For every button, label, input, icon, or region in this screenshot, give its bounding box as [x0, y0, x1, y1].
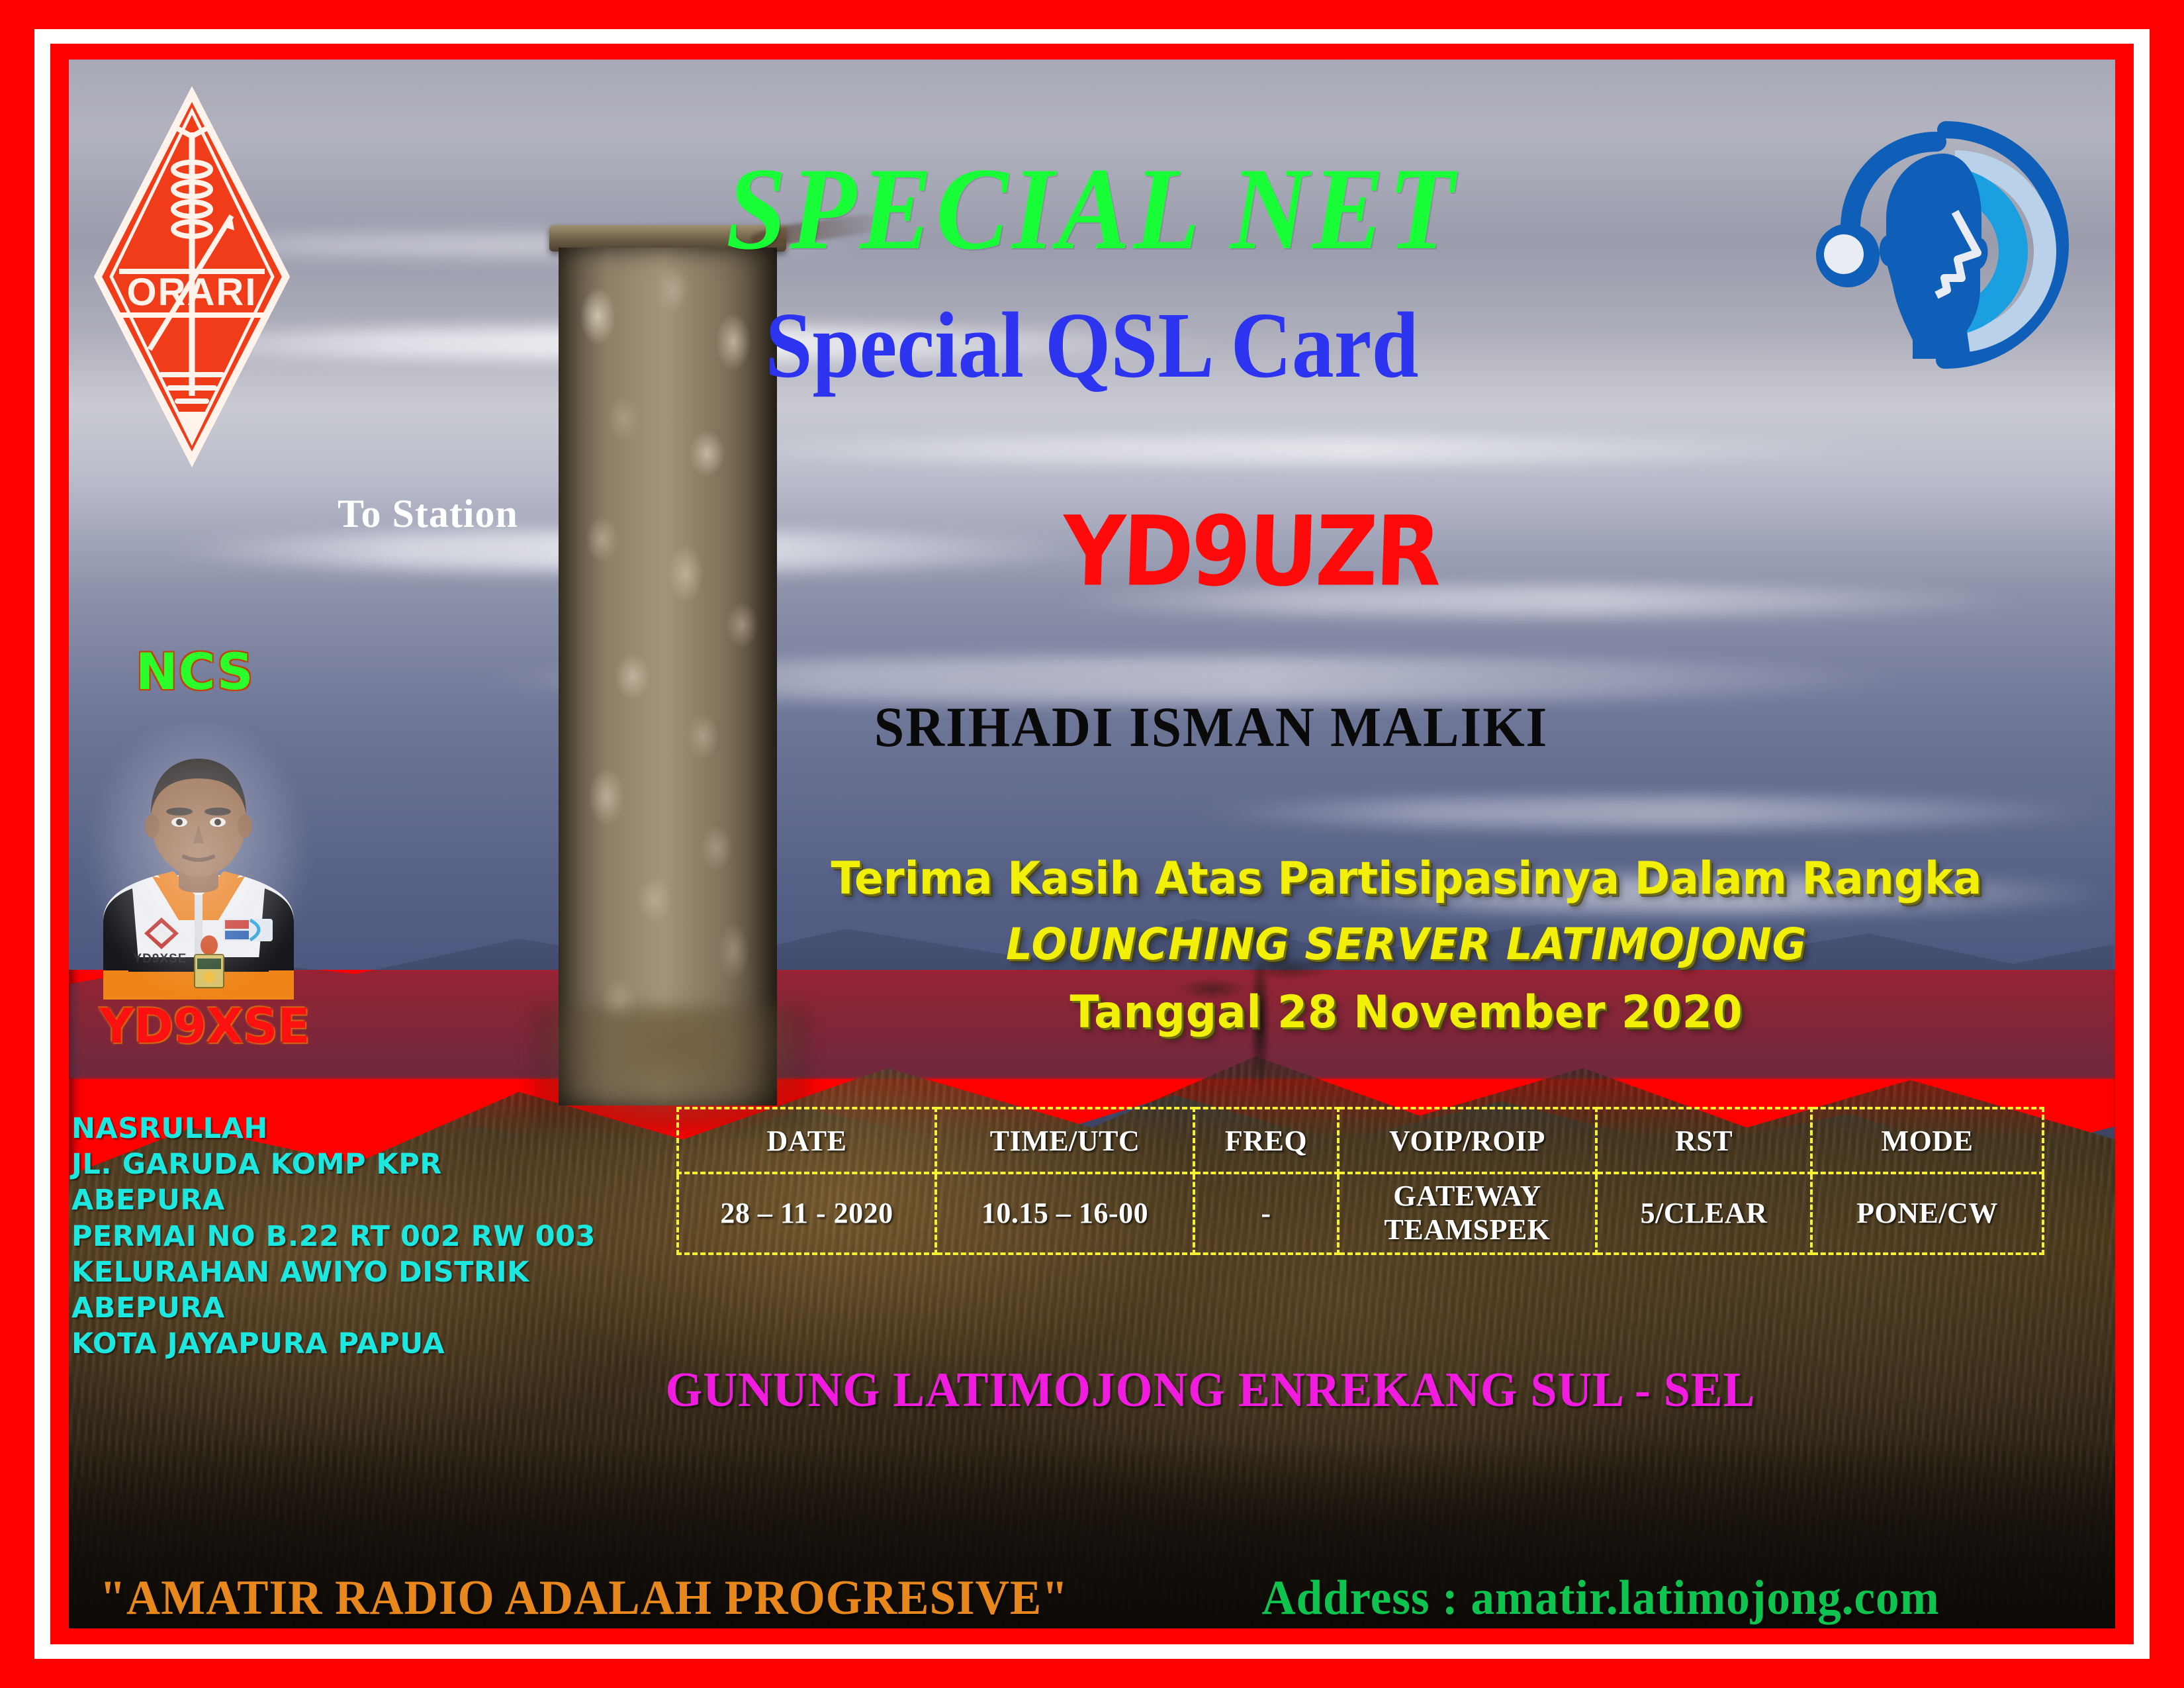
event-date-line: Tanggal 28 November 2020 [784, 986, 2029, 1039]
qso-log-table: DATE TIME/UTC FREQ VOIP/ROIP RST MODE 28… [676, 1107, 2044, 1255]
ncs-callsign: YD9XSE [99, 998, 310, 1054]
address-line: KELURAHAN AWIYO DISTRIK [71, 1254, 614, 1290]
event-thanks-line: Terima Kasih Atas Partisipasinya Dalam R… [784, 853, 2029, 905]
orari-logo: ORARI [93, 85, 291, 469]
address-line: ABEPURA [71, 1290, 614, 1326]
page-subtitle: Special QSL Card [109, 298, 2075, 392]
operator-name: SRIHADI ISMAN MALIKI [771, 694, 1651, 760]
recipient-address-block: NASRULLAH JL. GARUDA KOMP KPR ABEPURA PE… [71, 1111, 614, 1362]
column-header-voip: VOIP/ROIP [1338, 1108, 1596, 1173]
table-row: 28 – 11 - 2020 10.15 – 16-00 - GATEWAY T… [678, 1173, 2043, 1254]
cell-mode: PONE/CW [1811, 1173, 2043, 1254]
column-header-freq: FREQ [1194, 1108, 1338, 1173]
cell-voip: GATEWAY TEAMSPEK [1338, 1173, 1596, 1254]
event-title-line: LOUNCHING SERVER LATIMOJONG [784, 919, 2029, 970]
footer-slogan: "AMATIR RADIO ADALAH PROGRESIVE" [100, 1570, 1069, 1626]
cell-date: 28 – 11 - 2020 [678, 1173, 936, 1254]
address-line: KOTA JAYAPURA PAPUA [71, 1326, 614, 1362]
cell-voip-line1: GATEWAY [1340, 1180, 1595, 1213]
cell-rst: 5/CLEAR [1596, 1173, 1811, 1254]
column-header-mode: MODE [1811, 1108, 2043, 1173]
address-line: NASRULLAH [71, 1111, 614, 1147]
cell-time: 10.15 – 16-00 [936, 1173, 1194, 1254]
orari-diamond-icon: ORARI [93, 85, 291, 469]
photo-halo [73, 722, 324, 1000]
table-header-row: DATE TIME/UTC FREQ VOIP/ROIP RST MODE [678, 1108, 2043, 1173]
address-line: ABEPURA [71, 1182, 614, 1218]
address-line: JL. GARUDA KOMP KPR [71, 1147, 614, 1182]
cloud-band [683, 436, 1911, 465]
page-title: SPECIAL NET [87, 150, 2097, 267]
column-header-date: DATE [678, 1108, 936, 1173]
address-line: PERMAI NO B.22 RT 002 RW 003 [71, 1219, 614, 1254]
cloud-band [1195, 797, 2115, 828]
column-header-time: TIME/UTC [936, 1108, 1194, 1173]
station-callsign: YD9UZR [978, 503, 1524, 600]
qsl-card: ORARI [0, 0, 2184, 1688]
cell-voip-line2: TEAMSPEK [1340, 1213, 1595, 1247]
ncs-operator-photo: YD9XSE [73, 722, 324, 1000]
column-header-rst: RST [1596, 1108, 1811, 1173]
ncs-label: NCS [136, 642, 254, 701]
to-station-label: To Station [338, 491, 518, 537]
location-line: GUNUNG LATIMOJONG ENREKANG SUL - SEL [665, 1362, 1755, 1419]
cell-freq: - [1194, 1173, 1338, 1254]
footer-website-address: Address : amatir.latimojong.com [1261, 1570, 1939, 1626]
